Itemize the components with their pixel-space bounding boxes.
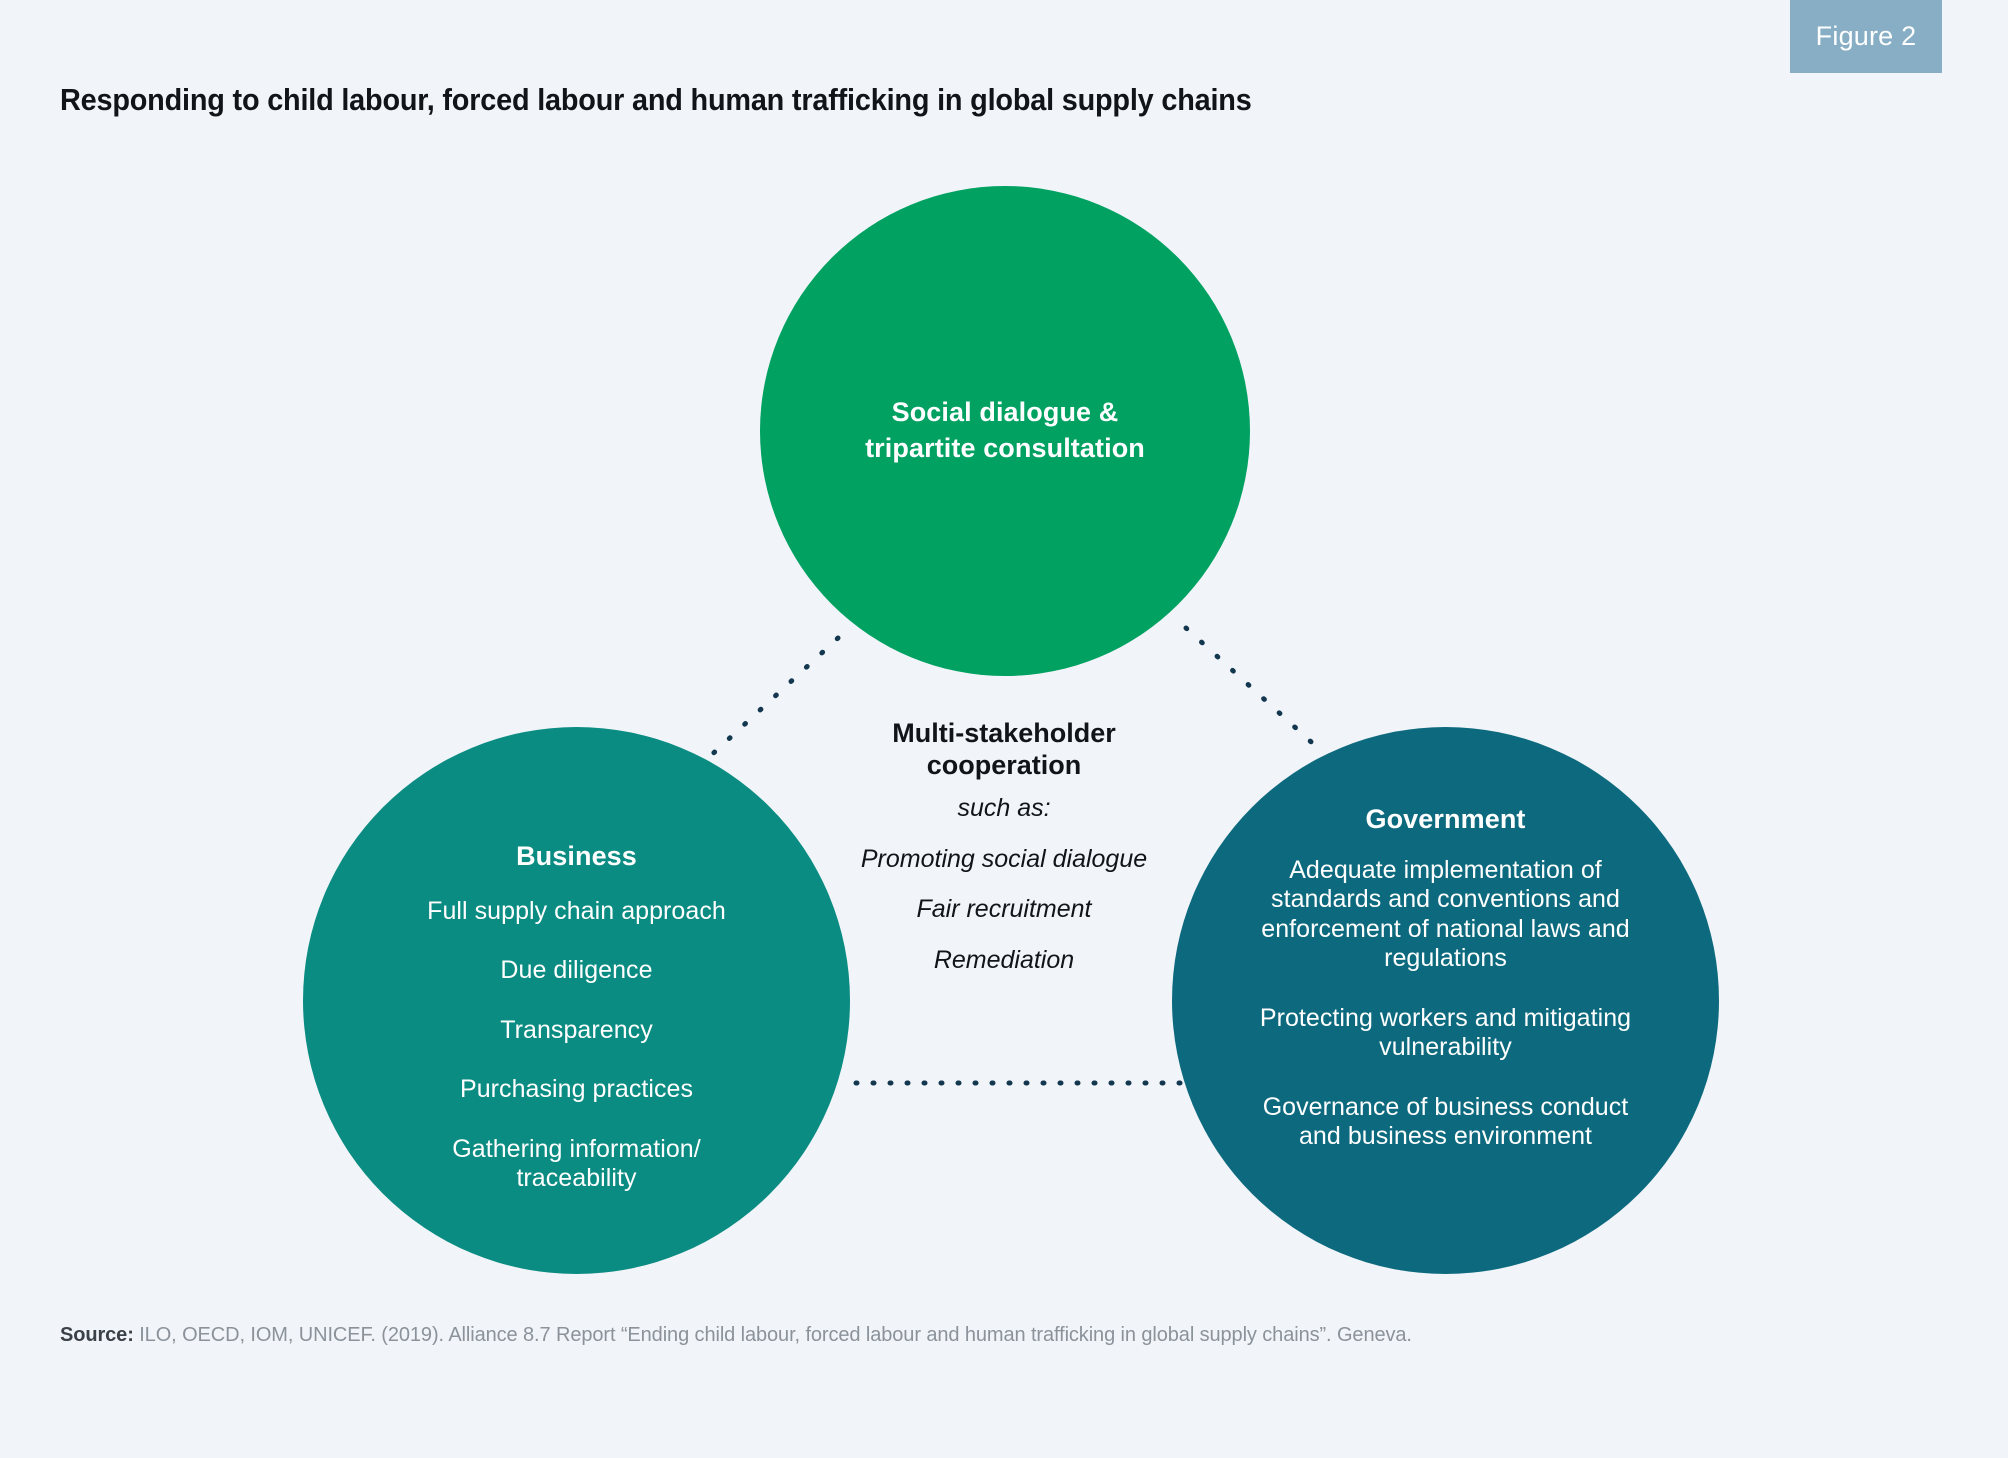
source-label: Source: [60,1324,134,1346]
node-government-heading: Government [1365,802,1525,838]
list-item: Due diligence [303,956,850,986]
source-text: ILO, OECD, IOM, UNICEF. (2019). Alliance… [134,1324,1412,1346]
list-item: Fair recruitment [804,895,1204,924]
center-multi-stakeholder-block: Multi-stakeholder cooperation such as: P… [804,718,1204,975]
source-note: Source: ILO, OECD, IOM, UNICEF. (2019). … [60,1324,1412,1347]
node-business[interactable]: Business Full supply chain approach Due … [303,727,850,1274]
center-list: Promoting social dialogue Fair recruitme… [804,845,1204,975]
list-item: Governance of business conduct and busin… [1253,1093,1638,1152]
list-item: Adequate implementation of standards and… [1258,856,1633,974]
list-item: Full supply chain approach [303,897,850,927]
list-item: Remediation [804,946,1204,975]
list-item: Protecting workers and mitigating vulner… [1246,1004,1646,1063]
node-social-dialogue-heading-line2: tripartite consultation [865,431,1145,467]
list-item: Purchasing practices [303,1075,850,1105]
node-business-heading: Business [516,839,637,875]
node-government-list: Adequate implementation of standards and… [1172,856,1719,1152]
center-such-as-label: such as: [804,794,1204,823]
node-business-list: Full supply chain approach Due diligence… [303,897,850,1194]
figure-page: Figure 2 Responding to child labour, for… [0,0,2008,1458]
node-social-dialogue-heading-line1: Social dialogue & [865,395,1145,431]
connector-top-to-right [1186,628,1320,750]
list-item: Transparency [303,1016,850,1046]
list-item: Gathering information/ traceability [427,1135,727,1194]
list-item: Promoting social dialogue [804,845,1204,874]
center-title-line2: cooperation [804,750,1204,782]
node-government[interactable]: Government Adequate implementation of st… [1172,727,1719,1274]
center-title: Multi-stakeholder cooperation [804,718,1204,782]
center-title-line1: Multi-stakeholder [804,718,1204,750]
node-social-dialogue-heading: Social dialogue & tripartite consultatio… [865,395,1145,466]
node-social-dialogue[interactable]: Social dialogue & tripartite consultatio… [760,186,1250,676]
